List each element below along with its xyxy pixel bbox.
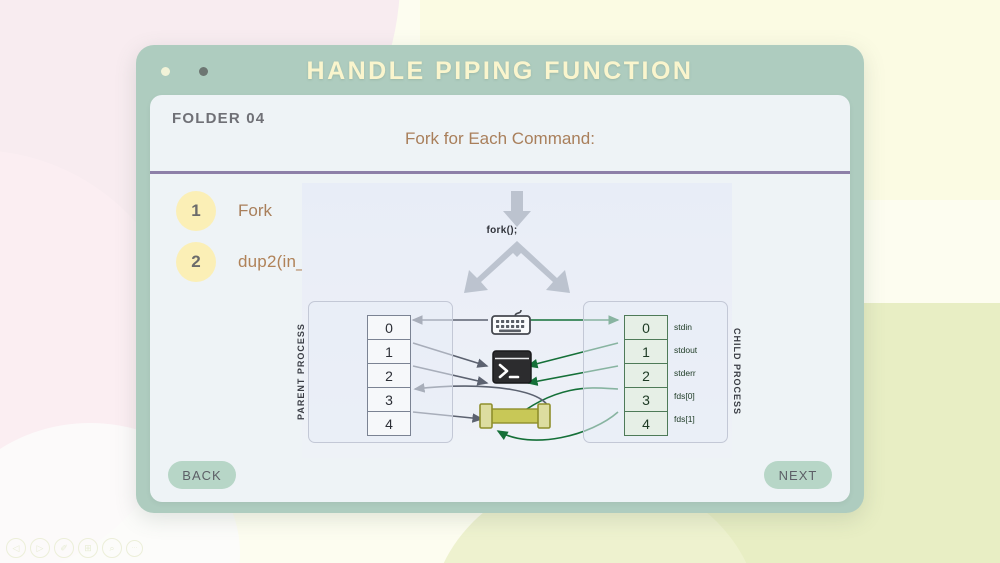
fd-cell: 0 [367, 315, 411, 340]
fork-split-arrow-icon [447, 241, 587, 297]
parent-process-label: PARENT PROCESS [293, 302, 309, 442]
fork-call-label: fork(); [462, 225, 542, 236]
folder-label: FOLDER 04 [172, 110, 265, 127]
slide-sheet: FOLDER 04 Fork for Each Command: 1 Fork … [150, 95, 850, 502]
fd-cell: 1 [624, 340, 668, 364]
fd-name: fds[1] [674, 407, 724, 430]
child-process-label: CHILD PROCESS [729, 302, 745, 442]
fd-cell: 2 [367, 364, 411, 388]
presentation-window: HANDLE PIPING FUNCTION FOLDER 04 Fork fo… [136, 45, 864, 513]
arrow-down-icon [498, 191, 536, 229]
next-icon[interactable]: ▷ [30, 538, 50, 558]
step-text: Fork [238, 201, 272, 221]
parent-fd-table: 0 1 2 3 4 [367, 315, 411, 436]
window-title: HANDLE PIPING FUNCTION [136, 57, 864, 86]
divider [150, 171, 850, 174]
window-titlebar: HANDLE PIPING FUNCTION [136, 45, 864, 95]
child-fd-table: 0 1 2 3 4 [624, 315, 668, 436]
next-button[interactable]: NEXT [764, 461, 832, 489]
more-icon[interactable]: ··· [126, 540, 143, 557]
grid-icon[interactable]: ⊞ [78, 538, 98, 558]
fd-cell: 4 [367, 412, 411, 436]
section-title: Fork for Each Command: [150, 129, 850, 149]
list-item: 1 Fork [176, 191, 272, 231]
fd-cell: 3 [367, 388, 411, 412]
fd-name: stderr [674, 361, 724, 384]
child-process-box: CHILD PROCESS 0 1 2 3 4 stdin stdout std… [583, 301, 728, 443]
pipe-icon [478, 401, 552, 431]
pen-icon[interactable]: ✐ [54, 538, 74, 558]
back-button[interactable]: BACK [168, 461, 236, 489]
fd-cell: 2 [624, 364, 668, 388]
step-number: 1 [176, 191, 216, 231]
fd-name: fds[0] [674, 384, 724, 407]
terminal-icon [492, 350, 532, 384]
search-icon[interactable]: ⌕ [102, 538, 122, 558]
fd-name: stdout [674, 338, 724, 361]
fork-diagram: fork(); [302, 183, 732, 458]
fd-cell: 3 [624, 388, 668, 412]
prev-icon[interactable]: ◁ [6, 538, 26, 558]
keyboard-icon [490, 308, 532, 336]
fd-cell: 4 [624, 412, 668, 436]
fd-name: stdin [674, 315, 724, 338]
bottom-toolbar: ◁ ▷ ✐ ⊞ ⌕ ··· [6, 538, 143, 558]
step-number: 2 [176, 242, 216, 282]
fd-cell: 1 [367, 340, 411, 364]
fd-cell: 0 [624, 315, 668, 340]
parent-process-box: PARENT PROCESS stdin stdout stderr fds[0… [308, 301, 453, 443]
